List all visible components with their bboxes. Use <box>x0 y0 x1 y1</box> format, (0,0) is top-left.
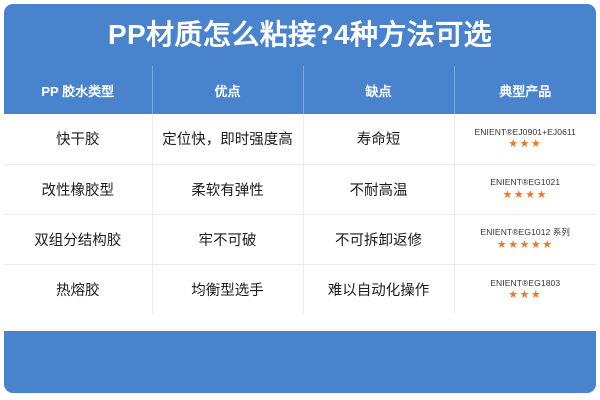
title-banner: PP材质怎么粘接?4种方法可选 <box>4 4 596 66</box>
table-header-row: PP 胶水类型 优点 缺点 典型产品 <box>4 66 596 114</box>
cell-typical-product: ENIENT®EG1803 ★★★ <box>454 264 596 314</box>
product-code: ENIENT®EG1803 <box>490 278 560 288</box>
column-header-cons: 缺点 <box>303 66 454 114</box>
cell-advantage: 定位快，即时强度高 <box>152 114 303 164</box>
cell-disadvantage: 寿命短 <box>303 114 454 164</box>
column-header-pros: 优点 <box>152 66 303 114</box>
cell-typical-product: ENIENT®EG1021 ★★★★ <box>454 164 596 214</box>
cell-adhesive-type: 改性橡胶型 <box>4 164 152 214</box>
product-info: ENIENT®EJ0901+EJ0611 ★★★ <box>461 127 591 150</box>
product-code: ENIENT®EG1012 系列 <box>480 227 570 237</box>
cell-disadvantage: 不可拆卸返修 <box>303 214 454 264</box>
rating-stars-icon: ★★★★ <box>503 190 548 201</box>
table-row: 热熔胶 均衡型选手 难以自动化操作 ENIENT®EG1803 ★★★ <box>4 264 596 314</box>
cell-disadvantage: 难以自动化操作 <box>303 264 454 314</box>
cell-advantage: 柔软有弹性 <box>152 164 303 214</box>
footer-bar <box>4 331 596 393</box>
table-row: 双组分结构胶 牢不可破 不可拆卸返修 ENIENT®EG1012 系列 ★★★★… <box>4 214 596 264</box>
table-header: PP 胶水类型 优点 缺点 典型产品 <box>4 66 596 114</box>
cell-disadvantage: 不耐高温 <box>303 164 454 214</box>
product-info: ENIENT®EG1803 ★★★ <box>461 278 591 301</box>
table-body: 快干胶 定位快，即时强度高 寿命短 ENIENT®EJ0901+EJ0611 ★… <box>4 114 596 314</box>
product-code: ENIENT®EG1021 <box>490 177 560 187</box>
infographic-root: PP材质怎么粘接?4种方法可选 PP 胶水类型 优点 缺点 典型产品 快干胶 定… <box>0 0 600 400</box>
page-title: PP材质怎么粘接?4种方法可选 <box>108 21 492 49</box>
column-header-product: 典型产品 <box>454 66 596 114</box>
rating-stars-icon: ★★★★★ <box>497 240 554 251</box>
product-info: ENIENT®EG1021 ★★★★ <box>461 177 591 200</box>
cell-adhesive-type: 快干胶 <box>4 114 152 164</box>
cell-typical-product: ENIENT®EJ0901+EJ0611 ★★★ <box>454 114 596 164</box>
cell-adhesive-type: 热熔胶 <box>4 264 152 314</box>
column-header-type: PP 胶水类型 <box>4 66 152 114</box>
table-row: 快干胶 定位快，即时强度高 寿命短 ENIENT®EJ0901+EJ0611 ★… <box>4 114 596 164</box>
comparison-card: PP材质怎么粘接?4种方法可选 PP 胶水类型 优点 缺点 典型产品 快干胶 定… <box>4 4 596 363</box>
adhesive-comparison-table: PP 胶水类型 优点 缺点 典型产品 快干胶 定位快，即时强度高 寿命短 ENI… <box>4 66 596 314</box>
rating-stars-icon: ★★★ <box>508 139 542 150</box>
product-code: ENIENT®EJ0901+EJ0611 <box>475 127 576 137</box>
table-row: 改性橡胶型 柔软有弹性 不耐高温 ENIENT®EG1021 ★★★★ <box>4 164 596 214</box>
cell-advantage: 牢不可破 <box>152 214 303 264</box>
product-info: ENIENT®EG1012 系列 ★★★★★ <box>461 227 591 250</box>
cell-adhesive-type: 双组分结构胶 <box>4 214 152 264</box>
cell-typical-product: ENIENT®EG1012 系列 ★★★★★ <box>454 214 596 264</box>
rating-stars-icon: ★★★ <box>508 290 542 301</box>
cell-advantage: 均衡型选手 <box>152 264 303 314</box>
